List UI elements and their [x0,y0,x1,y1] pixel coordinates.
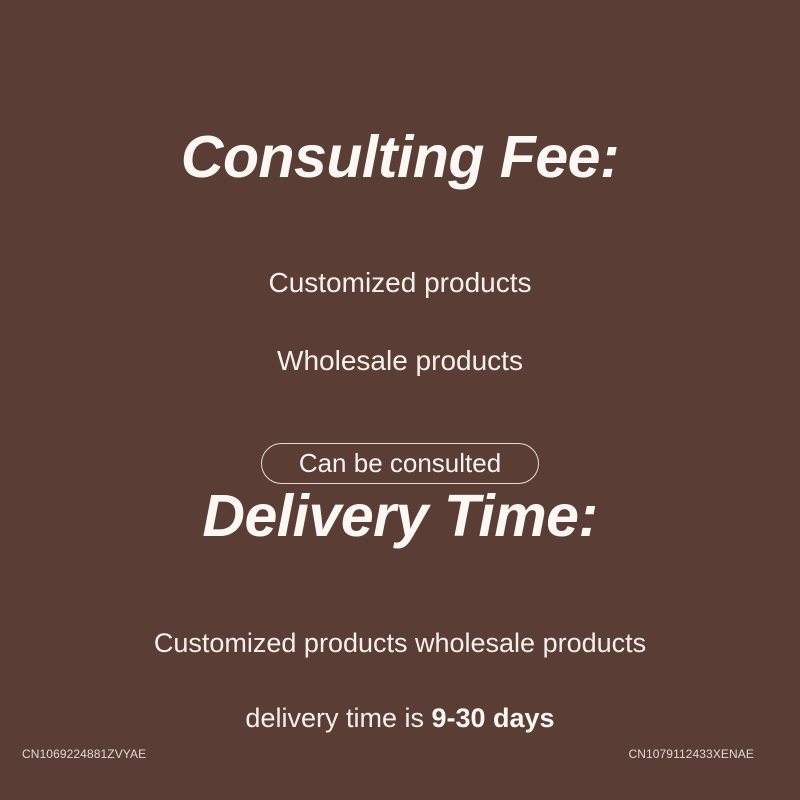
delivery-duration-highlight: 9-30 days [431,703,554,733]
consulting-fee-section: Consulting Fee: Customized products Whol… [0,0,800,484]
promo-banner: Consulting Fee: Customized products Whol… [0,0,800,800]
delivery-description-line-2: delivery time is 9-30 days [245,705,554,732]
consult-pill-container: Can be consulted [0,443,800,484]
can-be-consulted-button[interactable]: Can be consulted [261,443,539,484]
delivery-prefix-text: delivery time is [245,703,431,733]
delivery-time-section: Delivery Time: Customized products whole… [0,487,800,759]
consulting-fee-heading: Consulting Fee: [181,128,619,187]
delivery-time-heading: Delivery Time: [202,487,597,546]
consulting-line-wholesale-products: Wholesale products [277,347,523,375]
footer-codes: CN1069224881ZVYAE CN1079112433XENAE [0,748,800,800]
product-code-right: CN1079112433XENAE [628,748,754,760]
product-code-left: CN1069224881ZVYAE [22,748,146,760]
delivery-description-line-1: Customized products wholesale products [154,630,646,657]
consulting-line-customized-products: Customized products [268,269,531,297]
